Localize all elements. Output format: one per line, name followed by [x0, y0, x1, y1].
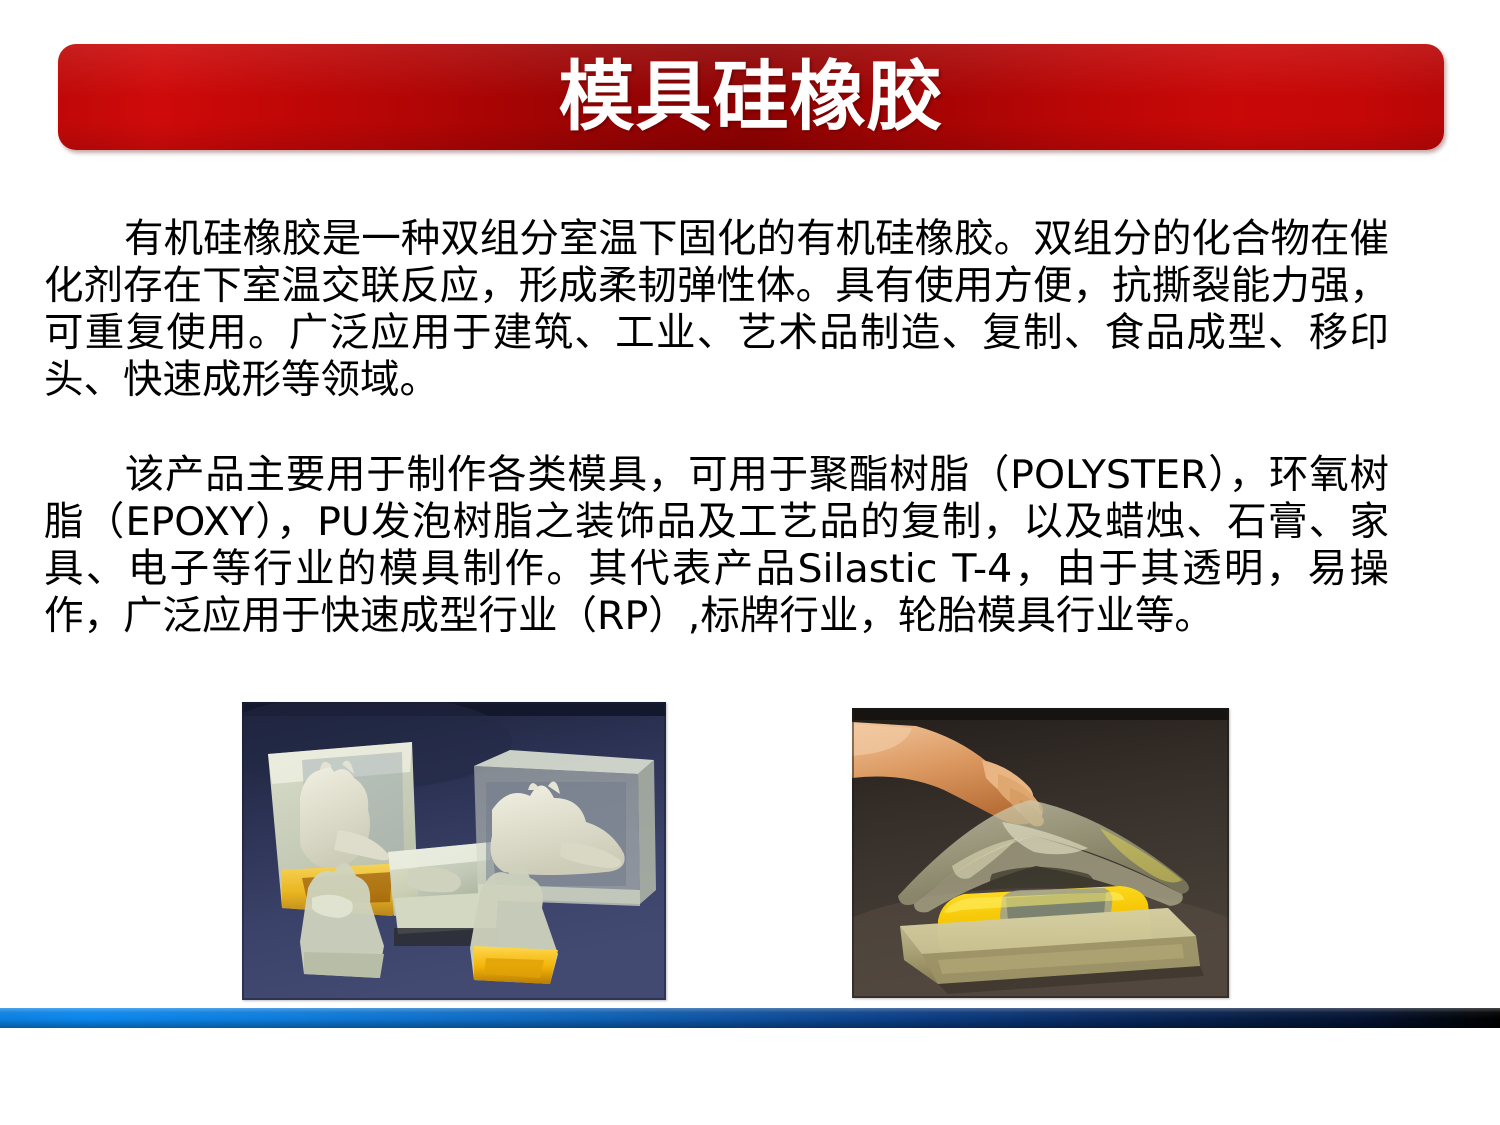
slide-body: 有机硅橡胶是一种双组分室温下固化的有机硅橡胶。双组分的化合物在催化剂存在下室温交…: [44, 216, 1389, 640]
paragraph-product-description: 有机硅橡胶是一种双组分室温下固化的有机硅橡胶。双组分的化合物在催化剂存在下室温交…: [44, 216, 1389, 404]
paragraph-1-text: 有机硅橡胶是一种双组分室温下固化的有机硅橡胶。双组分的化合物在催化剂存在下室温交…: [44, 216, 1389, 403]
demolding-illustration: [852, 708, 1229, 998]
paragraph-2-text: 该产品主要用于制作各类模具，可用于聚酯树脂（POLYSTER），环氧树脂（EPO…: [44, 452, 1389, 639]
slide-title-banner: 模具硅橡胶: [58, 44, 1444, 150]
paragraph-product-application: 该产品主要用于制作各类模具，可用于聚酯树脂（POLYSTER），环氧树脂（EPO…: [44, 452, 1389, 640]
demolding-photo: [852, 708, 1229, 998]
silicone-molds-illustration: [242, 702, 666, 1000]
footer-accent-stripe: [0, 1008, 1500, 1028]
silicone-molds-photo: [242, 702, 666, 1000]
page-title: 模具硅橡胶: [559, 59, 944, 135]
